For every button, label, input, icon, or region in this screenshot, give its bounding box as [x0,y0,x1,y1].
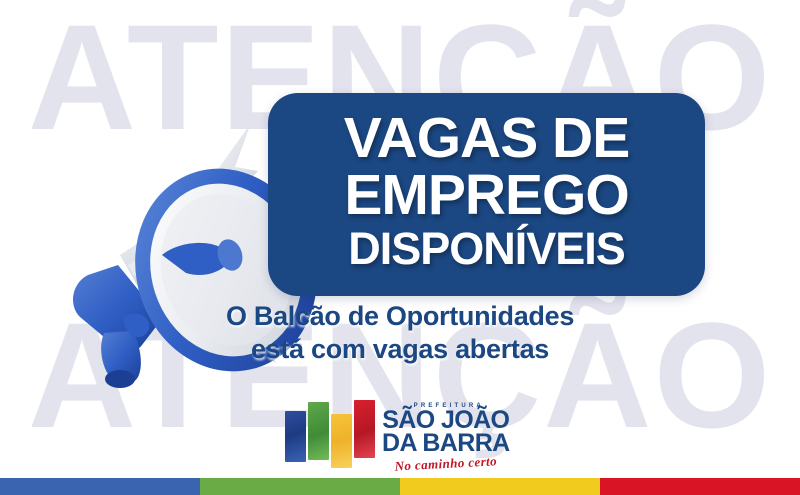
logo-name-line-2: DA BARRA [382,432,510,455]
subtitle-block: O Balcão de Oportunidades está com vagas… [0,300,800,366]
headline-line-3: DISPONÍVEIS [268,227,705,270]
flag-blue-panel [285,411,306,462]
headline-line-2: EMPREGO [268,168,705,223]
flag-yellow-panel [331,414,352,468]
municipality-logo: PREFEITURA SÃO JOÃO DA BARRA No caminho … [283,398,523,470]
bottom-color-bar [0,478,800,495]
bar-segment-red [600,478,800,495]
flag-green-panel [308,402,329,460]
flag-red-panel [354,400,375,458]
bar-segment-green [200,478,400,495]
job-vacancy-poster: ATENÇÃO ATENÇÃO [0,0,800,495]
subtitle-line-1: O Balcão de Oportunidades [0,300,800,333]
bar-segment-yellow [400,478,600,495]
subtitle-line-2: está com vagas abertas [0,333,800,366]
logo-text-block: PREFEITURA SÃO JOÃO DA BARRA No caminho … [382,398,510,472]
logo-flag-panels [283,398,378,468]
bar-segment-blue [0,478,200,495]
headline-panel: VAGAS DE EMPREGO DISPONÍVEIS [268,93,705,296]
headline-line-1: VAGAS DE [268,111,705,166]
